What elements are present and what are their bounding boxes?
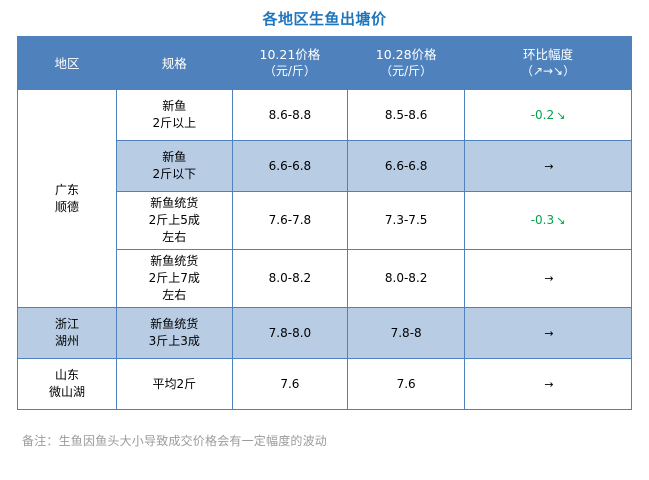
price-value: 7.6 — [397, 377, 416, 391]
cell-region: 广东顺德 — [18, 90, 117, 308]
cell-price-1021: 8.0-8.2 — [232, 250, 348, 308]
change-value: -0.2↘ — [531, 108, 566, 122]
cell-change: → — [465, 250, 632, 308]
spec-line: 平均2斤 — [119, 376, 230, 393]
arrow-right-icon: → — [544, 379, 553, 390]
column-header-price-1021-line1: 10.21价格 — [260, 47, 321, 62]
cell-change: → — [465, 141, 632, 192]
cell-spec: 平均2斤 — [116, 359, 232, 410]
change-value: → — [542, 271, 553, 286]
column-header-price-1028: 10.28价格 （元/斤） — [348, 37, 465, 90]
change-value: → — [542, 159, 553, 174]
spec-line: 2斤以下 — [119, 166, 230, 183]
table-container: 地区 规格 10.21价格 （元/斤） 10.28价格 （元/斤） 环比幅度 — [17, 36, 632, 410]
cell-spec: 新鱼统货3斤上3成 — [116, 308, 232, 359]
region-line: 湖州 — [20, 333, 114, 350]
cell-region: 山东微山湖 — [18, 359, 117, 410]
cell-change: -0.2↘ — [465, 90, 632, 141]
column-header-price-1021-unit: （元/斤） — [235, 63, 346, 80]
price-value: 8.6-8.8 — [269, 108, 312, 122]
cell-price-1028: 7.8-8 — [348, 308, 465, 359]
spec-line: 新鱼 — [119, 98, 230, 115]
change-value: -0.3↘ — [531, 213, 566, 227]
table-row: 山东微山湖平均2斤7.67.6→ — [18, 359, 632, 410]
arrow-down-right-icon: ↘ — [556, 215, 565, 226]
region-line: 浙江 — [20, 316, 114, 333]
spec-line: 新鱼统货 — [119, 253, 230, 270]
spec-line: 2斤以上 — [119, 115, 230, 132]
fish-price-table: 地区 规格 10.21价格 （元/斤） 10.28价格 （元/斤） 环比幅度 — [17, 36, 632, 410]
column-header-change: 环比幅度 （↗→↘） — [465, 37, 632, 90]
spec-line: 2斤上7成 — [119, 270, 230, 287]
cell-spec: 新鱼2斤以上 — [116, 90, 232, 141]
cell-spec: 新鱼统货2斤上5成左右 — [116, 192, 232, 250]
spec-line: 2斤上5成 — [119, 212, 230, 229]
page-title: 各地区生鱼出塘价 — [0, 0, 649, 36]
price-value: 6.6-6.8 — [385, 159, 428, 173]
region-line: 广东 — [20, 182, 114, 199]
price-value: 8.0-8.2 — [269, 271, 312, 285]
spec-line: 3斤上3成 — [119, 333, 230, 350]
column-header-price-1021: 10.21价格 （元/斤） — [232, 37, 348, 90]
column-header-region: 地区 — [18, 37, 117, 90]
spec-line: 左右 — [119, 287, 230, 304]
column-header-spec-line1: 规格 — [162, 56, 187, 71]
price-value: 7.3-7.5 — [385, 213, 428, 227]
arrow-right-icon: → — [544, 328, 553, 339]
price-value: 7.6 — [280, 377, 299, 391]
cell-change: → — [465, 359, 632, 410]
region-line: 微山湖 — [20, 384, 114, 401]
price-table-page: 各地区生鱼出塘价 地区 规格 10.21价格 — [0, 0, 649, 480]
change-value: → — [542, 326, 553, 341]
spec-line: 左右 — [119, 229, 230, 246]
cell-price-1021: 6.6-6.8 — [232, 141, 348, 192]
price-value: 7.8-8 — [391, 326, 422, 340]
arrow-right-icon: → — [544, 273, 553, 284]
cell-region: 浙江湖州 — [18, 308, 117, 359]
cell-spec: 新鱼统货2斤上7成左右 — [116, 250, 232, 308]
price-value: 7.6-7.8 — [269, 213, 312, 227]
cell-price-1028: 8.5-8.6 — [348, 90, 465, 141]
price-value: 8.0-8.2 — [385, 271, 428, 285]
cell-spec: 新鱼2斤以下 — [116, 141, 232, 192]
change-value: → — [542, 377, 553, 392]
cell-price-1021: 8.6-8.8 — [232, 90, 348, 141]
column-header-change-legend: （↗→↘） — [467, 63, 629, 80]
cell-price-1021: 7.6-7.8 — [232, 192, 348, 250]
spec-line: 新鱼 — [119, 149, 230, 166]
column-header-region-line1: 地区 — [54, 56, 79, 71]
cell-price-1021: 7.6 — [232, 359, 348, 410]
price-value: 7.8-8.0 — [269, 326, 312, 340]
column-header-price-1028-unit: （元/斤） — [350, 63, 462, 80]
column-header-price-1028-line1: 10.28价格 — [376, 47, 437, 62]
price-value: 6.6-6.8 — [269, 159, 312, 173]
table-head: 地区 规格 10.21价格 （元/斤） 10.28价格 （元/斤） 环比幅度 — [18, 37, 632, 90]
spec-line: 新鱼统货 — [119, 316, 230, 333]
cell-price-1028: 8.0-8.2 — [348, 250, 465, 308]
spec-line: 新鱼统货 — [119, 195, 230, 212]
table-body: 广东顺德新鱼2斤以上8.6-8.88.5-8.6-0.2↘新鱼2斤以下6.6-6… — [18, 90, 632, 410]
footnote: 备注：生鱼因鱼头大小导致成交价格会有一定幅度的波动 — [22, 432, 649, 450]
cell-price-1021: 7.8-8.0 — [232, 308, 348, 359]
cell-price-1028: 7.3-7.5 — [348, 192, 465, 250]
region-line: 山东 — [20, 367, 114, 384]
column-header-spec: 规格 — [116, 37, 232, 90]
price-value: 8.5-8.6 — [385, 108, 428, 122]
arrow-right-icon: → — [544, 161, 553, 172]
table-header-row: 地区 规格 10.21价格 （元/斤） 10.28价格 （元/斤） 环比幅度 — [18, 37, 632, 90]
region-line: 顺德 — [20, 199, 114, 216]
table-row: 广东顺德新鱼2斤以上8.6-8.88.5-8.6-0.2↘ — [18, 90, 632, 141]
cell-change: -0.3↘ — [465, 192, 632, 250]
table-row: 浙江湖州新鱼统货3斤上3成7.8-8.07.8-8→ — [18, 308, 632, 359]
cell-change: → — [465, 308, 632, 359]
column-header-change-line1: 环比幅度 — [523, 47, 573, 62]
cell-price-1028: 7.6 — [348, 359, 465, 410]
arrow-down-right-icon: ↘ — [556, 110, 565, 121]
cell-price-1028: 6.6-6.8 — [348, 141, 465, 192]
